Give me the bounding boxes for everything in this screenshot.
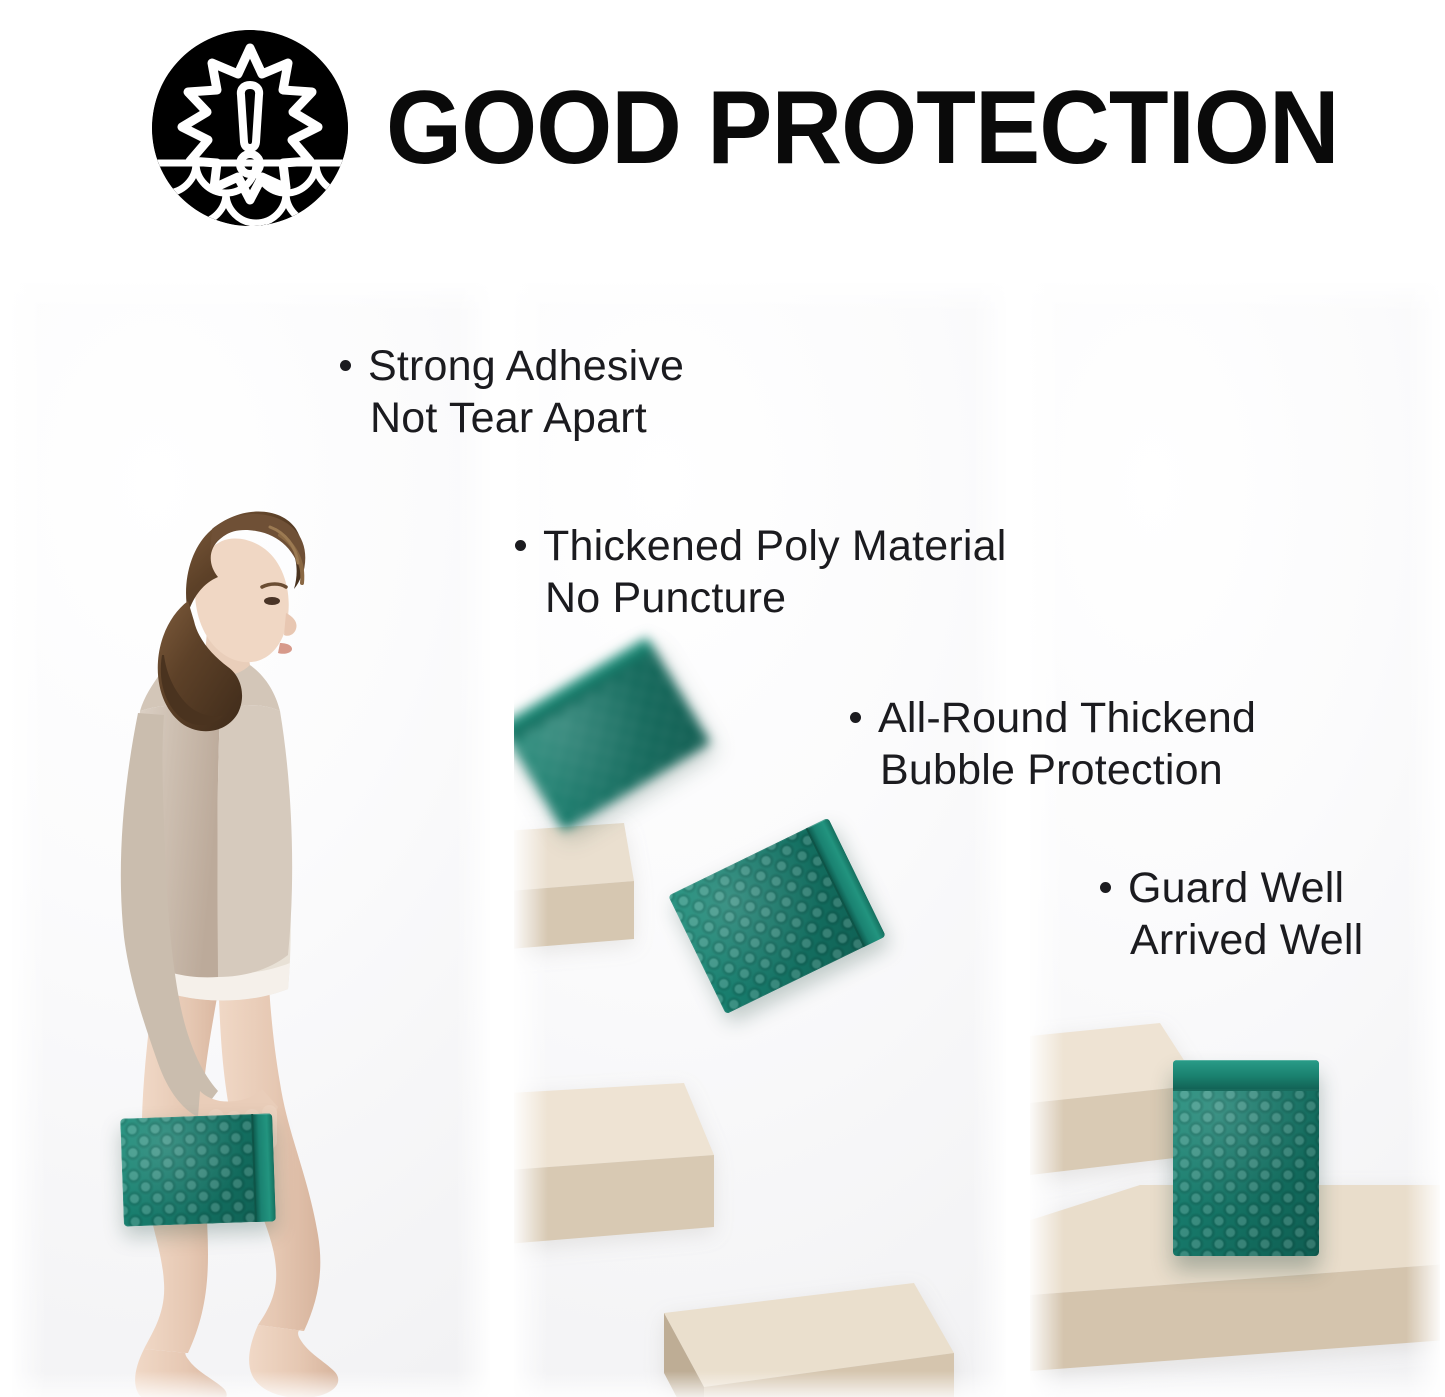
bullet-dot-icon	[340, 360, 351, 371]
stair-tread-second-middle	[514, 1083, 764, 1313]
feature-bullet-strong-adhesive: Strong Adhesive Not Tear Apart	[340, 340, 684, 444]
mailer-flap	[1173, 1060, 1319, 1091]
panel-woman-holding-mailer	[12, 283, 490, 1397]
bullet-text: Guard Well	[1128, 864, 1344, 912]
bullet-line-secondary: Not Tear Apart	[340, 392, 684, 444]
feature-bullet-thickened-poly: Thickened Poly Material No Puncture	[515, 520, 1006, 624]
bullet-line-primary: Strong Adhesive	[340, 340, 684, 392]
bullet-line-secondary: No Puncture	[515, 572, 1006, 624]
mailer-flap	[251, 1113, 276, 1222]
stair-tread-top-middle	[514, 823, 694, 1013]
bullet-text: All-Round Thickend	[878, 694, 1256, 742]
panel-mailer-arrived-intact	[1030, 283, 1440, 1397]
bullet-line-secondary: Bubble Protection	[850, 744, 1256, 796]
woman-walking-downstairs	[12, 283, 490, 1397]
bullet-line-secondary: Arrived Well	[1100, 914, 1363, 966]
bullet-line-primary: Thickened Poly Material	[515, 520, 1006, 572]
feature-bullet-guard-well: Guard Well Arrived Well	[1100, 862, 1363, 966]
bullet-line-primary: Guard Well	[1100, 862, 1363, 914]
bullet-text: Thickened Poly Material	[543, 522, 1006, 570]
header-banner: GOOD PROTECTION	[0, 0, 1445, 255]
bullet-dot-icon	[1100, 882, 1111, 893]
panel-mailers-falling	[514, 283, 1006, 1397]
bullet-dot-icon	[850, 712, 861, 723]
bullet-dot-icon	[515, 540, 526, 551]
stair-tread-third-middle	[664, 1283, 994, 1397]
teal-bubble-mailer-in-hand	[120, 1113, 276, 1226]
teal-bubble-mailer-upright	[1173, 1060, 1319, 1256]
feature-bullet-all-round-thickend: All-Round Thickend Bubble Protection	[850, 692, 1256, 796]
bullet-line-primary: All-Round Thickend	[850, 692, 1256, 744]
panels-row	[0, 283, 1445, 1397]
product-infographic: GOOD PROTECTION	[0, 0, 1445, 1397]
page-title: GOOD PROTECTION	[386, 76, 1339, 180]
bullet-text: Strong Adhesive	[368, 342, 684, 390]
burst-exclamation-bubblewrap-icon	[152, 30, 348, 226]
